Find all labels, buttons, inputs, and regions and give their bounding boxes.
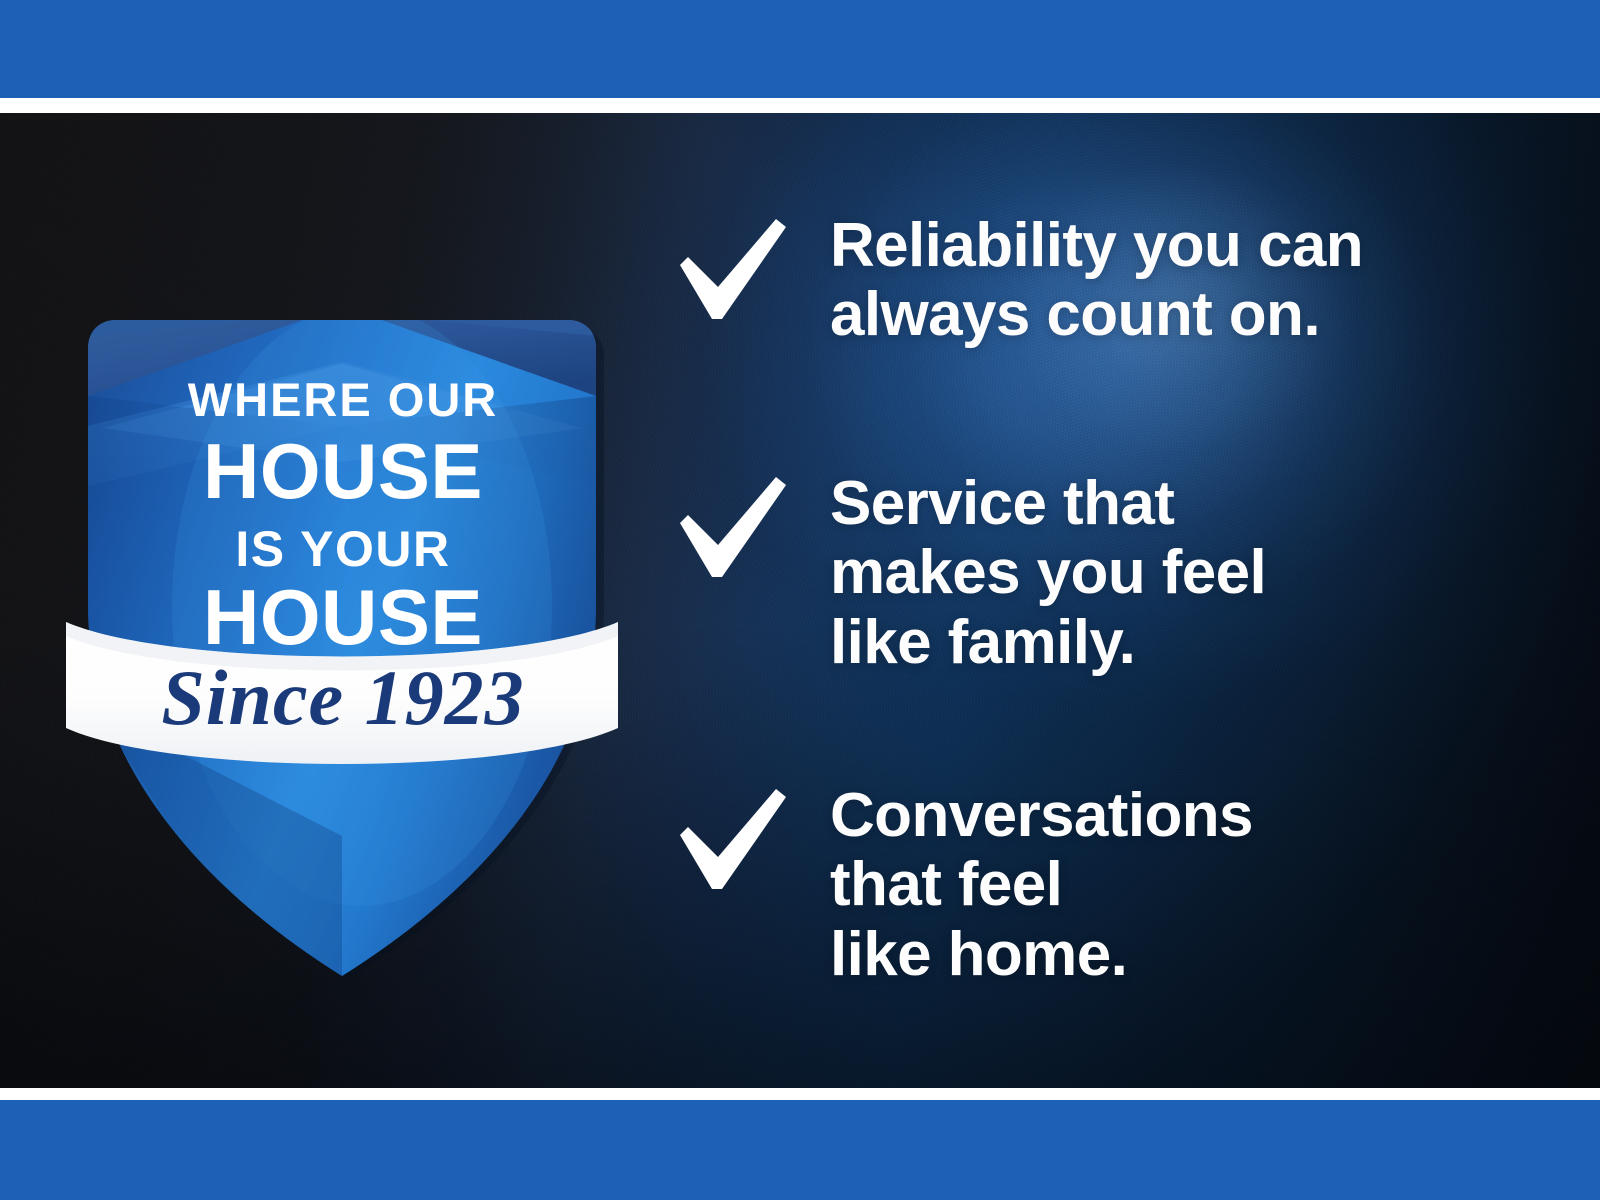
benefit-item-2: Service that makes you feel like family. — [672, 469, 1266, 677]
shield-line-3: IS YOUR — [235, 521, 450, 577]
benefit-item-3: Conversations that feel like home. — [672, 781, 1253, 989]
shield-line-1: WHERE OUR — [188, 373, 498, 426]
benefit-text-2: Service that makes you feel like family. — [830, 469, 1266, 677]
shield-emblem: WHERE OUR HOUSE IS YOUR HOUSE Since 1923 — [62, 276, 622, 1036]
checkmark-icon — [672, 785, 792, 897]
shield-line-2: HOUSE — [203, 427, 483, 515]
checkmark-icon — [672, 215, 792, 327]
shield-line-4: HOUSE — [203, 573, 483, 661]
checkmark-icon — [672, 473, 792, 585]
ribbon-text: Since 1923 — [161, 654, 524, 741]
benefit-text-1: Reliability you can always count on. — [830, 211, 1363, 350]
bottom-brand-bar — [0, 1100, 1600, 1200]
benefit-text-3: Conversations that feel like home. — [830, 781, 1253, 989]
main-panel: WHERE OUR HOUSE IS YOUR HOUSE Since 1923 — [0, 113, 1600, 1088]
benefit-item-1: Reliability you can always count on. — [672, 211, 1363, 350]
promotional-graphic: WHERE OUR HOUSE IS YOUR HOUSE Since 1923 — [0, 0, 1600, 1200]
top-brand-bar — [0, 0, 1600, 98]
